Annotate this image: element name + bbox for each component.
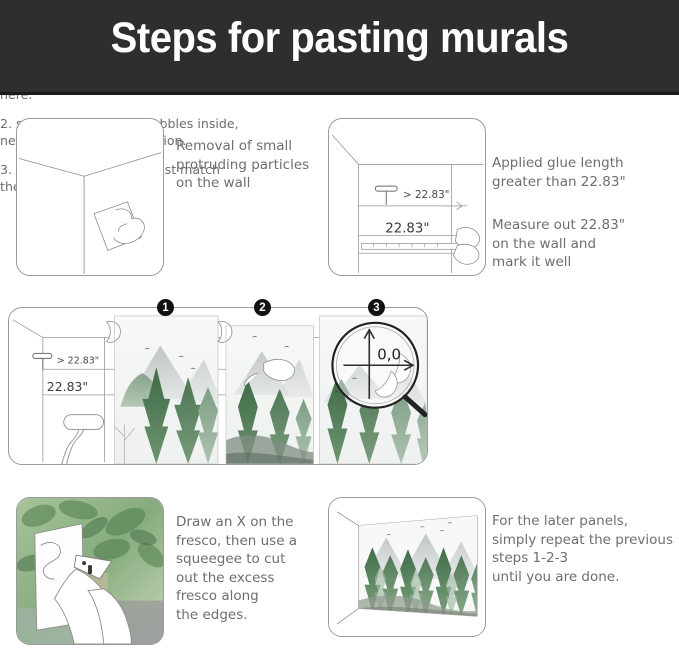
- step1-caption: Removal of small protruding particles on…: [176, 137, 336, 193]
- glue-brush-icon: [33, 353, 52, 369]
- measure-label: 22.83": [47, 379, 88, 394]
- step-badge-3: 3: [368, 299, 385, 316]
- mural-panel-2: [226, 326, 314, 464]
- finished-mural-room-icon: [329, 498, 485, 636]
- glue-length-label: > 22.83": [403, 189, 449, 201]
- paint-roller-icon: [62, 415, 104, 464]
- mural-panel-1: [114, 316, 221, 464]
- step1-illustration-panel: [16, 118, 164, 276]
- measure-label: 22.83": [385, 222, 429, 237]
- glue-brush-icon: [375, 186, 397, 205]
- step2-illustration-panel: > 22.83" 22.83": [328, 118, 486, 276]
- step-badge-2: 2: [254, 299, 271, 316]
- hand-icon: [453, 227, 479, 264]
- step5-caption: For the later panels, simply repeat the …: [492, 512, 679, 586]
- squeegee-cut-icon: [17, 498, 163, 644]
- step5-illustration-panel: [328, 497, 486, 637]
- page-title: Steps for pasting murals: [24, 14, 655, 63]
- step-badge-1: 1: [157, 299, 174, 316]
- mural-panels-application-icon: > 22.83" 22.83": [9, 308, 427, 464]
- step4-illustration-panel: [16, 497, 164, 645]
- step3-illustration-panel: > 22.83" 22.83": [8, 307, 428, 465]
- ruler-icon: [362, 243, 459, 249]
- glue-length-label: > 22.83": [57, 355, 99, 366]
- header-divider: [0, 92, 679, 95]
- step4-caption: Draw an X on the fresco, then use a sque…: [176, 513, 336, 624]
- step2-caption-glue: Applied glue length greater than 22.83": [492, 154, 679, 191]
- origin-label: 0,0: [377, 345, 401, 363]
- step2-caption-measure: Measure out 22.83" on the wall and mark …: [492, 216, 679, 272]
- wall-corner-wipe-icon: [17, 119, 163, 275]
- cloth-hand-icon: [94, 202, 144, 250]
- wall-measure-glue-icon: > 22.83" 22.83": [329, 119, 485, 275]
